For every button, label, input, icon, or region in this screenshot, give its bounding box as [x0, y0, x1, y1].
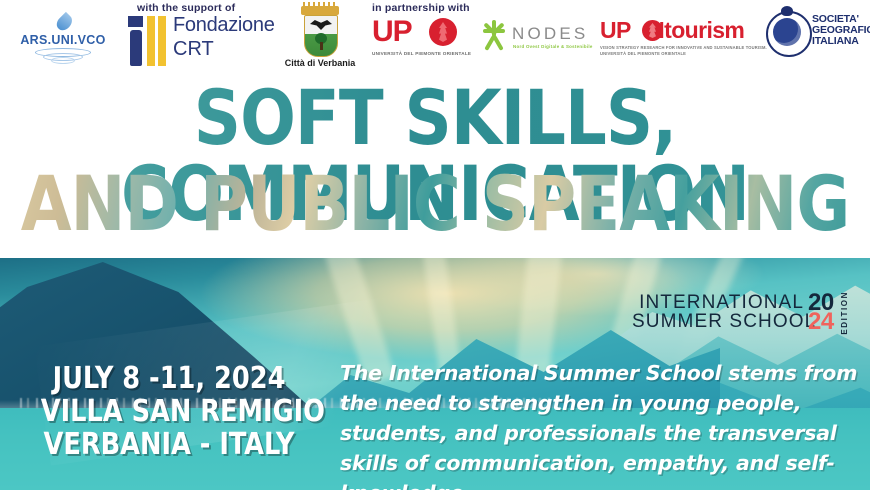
upon-tourism-wordmark: UP Ntourism [600, 18, 760, 42]
edition-line-2: SUMMER SCHOOL [632, 311, 804, 333]
event-location: VERBANIA - ITALY [41, 428, 298, 461]
upo-subtitle: UNIVERSITÀ DEL PIEMONTE ORIENTALE [372, 51, 471, 56]
crt-mark-icon [128, 16, 143, 27]
nodes-starburst-icon [478, 20, 508, 50]
citta-di-verbania-logo: Città di Verbania [285, 6, 355, 72]
fondazione-crt-logo: Fondazione CRT [128, 16, 253, 66]
eagle-icon [310, 20, 332, 30]
upo-logo: UP UNIVERSITÀ DEL PIEMONTE ORIENTALE [372, 16, 472, 66]
coat-of-arms-icon [304, 15, 338, 57]
crt-mark-icon [147, 16, 155, 66]
globe-seal-icon [766, 11, 812, 57]
partnership-label: in partnership with [372, 2, 470, 14]
poster-title: SOFT SKILLS, COMMUNICATION AND PUBLIC SP… [0, 78, 870, 258]
event-poster: with the support of in partnership with … [0, 0, 870, 490]
crt-line1: Fondazione [173, 14, 275, 37]
upo-o-icon [429, 18, 457, 46]
upon-tourism-logo: UP Ntourism VISION STRATEGY RESEARCH FOR… [600, 18, 760, 64]
event-venue: VILLA SAN REMIGIO [41, 395, 298, 428]
crt-line2: CRT [173, 38, 214, 61]
sgi-wordmark: SOCIETA' GEOGRAFICA ITALIANA [812, 14, 870, 47]
water-drop-icon [54, 12, 75, 33]
sponsor-logo-bar: with the support of in partnership with … [0, 0, 870, 75]
event-details: JULY 8 -11, 2024 VILLA SAN REMIGIO VERBA… [41, 362, 298, 461]
ars-uni-vco-label: ARS.UNI.VCO [8, 33, 118, 47]
nodes-wordmark: NODES [512, 24, 588, 44]
societa-geografica-italiana-logo: SOCIETA' GEOGRAFICA ITALIANA [766, 8, 870, 64]
upo-wordmark: UP [372, 16, 472, 48]
support-label: with the support of [137, 2, 235, 14]
title-line-2: AND PUBLIC SPEAKING [17, 166, 852, 242]
description-text: The International Summer School stems fr… [340, 358, 864, 490]
edition-label: EDITION [840, 291, 849, 335]
nodes-logo: NODES Nord Ovest Digitale & Sostenibile [478, 18, 588, 63]
edition-year-second: 24 [808, 308, 834, 336]
event-date: JULY 8 -11, 2024 [41, 362, 298, 395]
sgi-line3: ITALIANA [812, 36, 870, 47]
crt-mark-icon [130, 30, 142, 66]
upon-tourism-o-icon [642, 20, 663, 41]
ripple-icon [51, 57, 75, 64]
crt-mark-icon [158, 16, 166, 66]
citta-di-verbania-label: Città di Verbania [279, 58, 361, 68]
upon-tourism-subtitle-1: VISION STRATEGY RESEARCH FOR INNOVATIVE … [600, 45, 767, 50]
crown-icon [301, 6, 339, 15]
nodes-subtitle: Nord Ovest Digitale & Sostenibile [513, 44, 593, 49]
upon-tourism-subtitle-2: UNIVERSITÀ DEL PIEMONTE ORIENTALE [600, 51, 686, 56]
ars-uni-vco-logo: ARS.UNI.VCO [8, 14, 118, 66]
edition-badge: INTERNATIONAL SUMMER SCHOOL 20 24 EDITIO… [632, 292, 870, 342]
tree-trunk-icon [320, 42, 323, 50]
